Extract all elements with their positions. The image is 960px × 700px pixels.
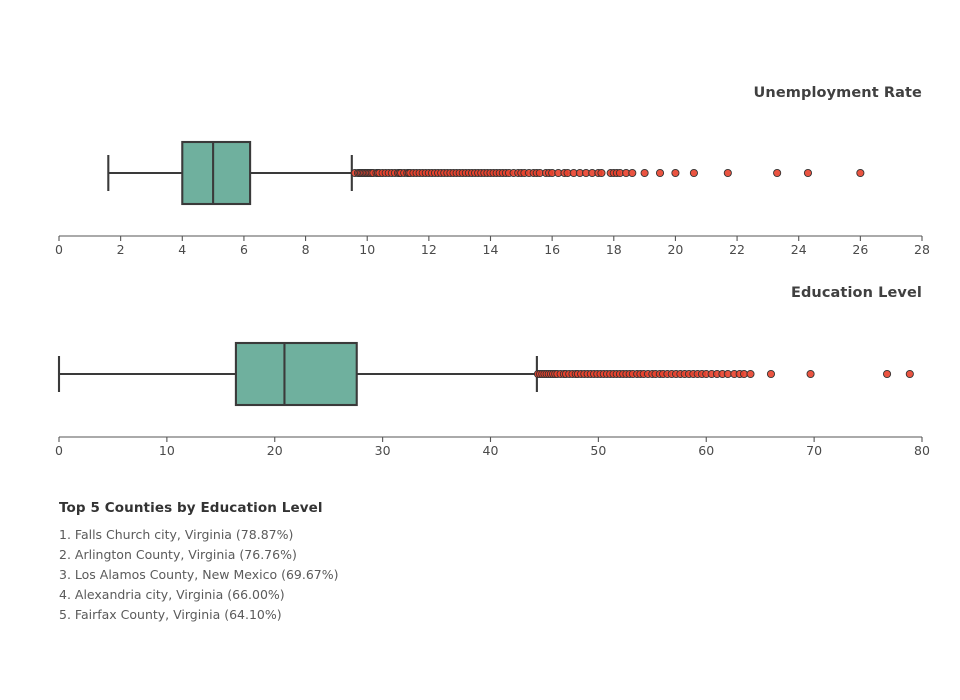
outlier-point (857, 169, 864, 176)
list-item: 2. Arlington County, Virginia (76.76%) (59, 545, 579, 565)
summary-heading: Top 5 Counties by Education Level (59, 500, 579, 516)
boxplot-group (108, 142, 351, 204)
axis-tick-label: 6 (240, 242, 248, 257)
outlier-point (883, 370, 890, 377)
axis-tick-label: 8 (302, 242, 310, 257)
x-axis: 0246810121416182022242628 (55, 236, 930, 257)
axis-tick-label: 24 (791, 242, 807, 257)
axis-tick-label: 80 (914, 443, 930, 458)
outlier-point (804, 169, 811, 176)
axis-tick-label: 28 (914, 242, 930, 257)
axis-tick-label: 0 (55, 242, 63, 257)
outlier-point (690, 169, 697, 176)
axis-tick-label: 10 (159, 443, 175, 458)
axis-tick-label: 60 (698, 443, 714, 458)
outlier-point (629, 169, 636, 176)
outlier-point (767, 370, 774, 377)
panel-unemployment-rate: Unemployment Rate 0246810121416182022242… (0, 0, 960, 270)
axis-tick-label: 26 (852, 242, 868, 257)
outlier-group (534, 370, 913, 377)
outlier-point (598, 169, 605, 176)
axis-tick-label: 40 (483, 443, 499, 458)
top-counties-summary: Top 5 Counties by Education Level 1. Fal… (59, 500, 579, 625)
outlier-point (807, 370, 814, 377)
axis-tick-label: 2 (117, 242, 125, 257)
list-item: 3. Los Alamos County, New Mexico (69.67%… (59, 565, 579, 585)
axis-tick-label: 50 (590, 443, 606, 458)
list-item: 4. Alexandria city, Virginia (66.00%) (59, 585, 579, 605)
axis-tick-label: 16 (544, 242, 560, 257)
outlier-point (672, 169, 679, 176)
axis-tick-label: 12 (421, 242, 437, 257)
axis-tick-label: 20 (267, 443, 283, 458)
boxplot-group (59, 343, 537, 405)
outlier-point (641, 169, 648, 176)
axis-tick-label: 18 (606, 242, 622, 257)
outlier-point (724, 169, 731, 176)
axis-tick-label: 10 (359, 242, 375, 257)
axis-tick-label: 70 (806, 443, 822, 458)
axis-tick-label: 14 (483, 242, 499, 257)
box-iqr (236, 343, 357, 405)
outlier-point (656, 169, 663, 176)
summary-list: 1. Falls Church city, Virginia (78.87%)2… (59, 525, 579, 625)
box-iqr (182, 142, 250, 204)
outlier-point (906, 370, 913, 377)
outlier-point (747, 370, 754, 377)
boxplot-education-level: 01020304050607080 (0, 270, 960, 485)
axis-tick-label: 4 (178, 242, 186, 257)
panel-education-level: Education Level 01020304050607080 (0, 270, 960, 485)
list-item: 1. Falls Church city, Virginia (78.87%) (59, 525, 579, 545)
axis-tick-label: 0 (55, 443, 63, 458)
axis-tick-label: 20 (667, 242, 683, 257)
axis-tick-label: 30 (375, 443, 391, 458)
list-item: 5. Fairfax County, Virginia (64.10%) (59, 605, 579, 625)
x-axis: 01020304050607080 (55, 437, 930, 458)
axis-tick-label: 22 (729, 242, 745, 257)
outlier-point (774, 169, 781, 176)
outlier-group (351, 169, 864, 176)
boxplot-unemployment-rate: 0246810121416182022242628 (0, 0, 960, 270)
